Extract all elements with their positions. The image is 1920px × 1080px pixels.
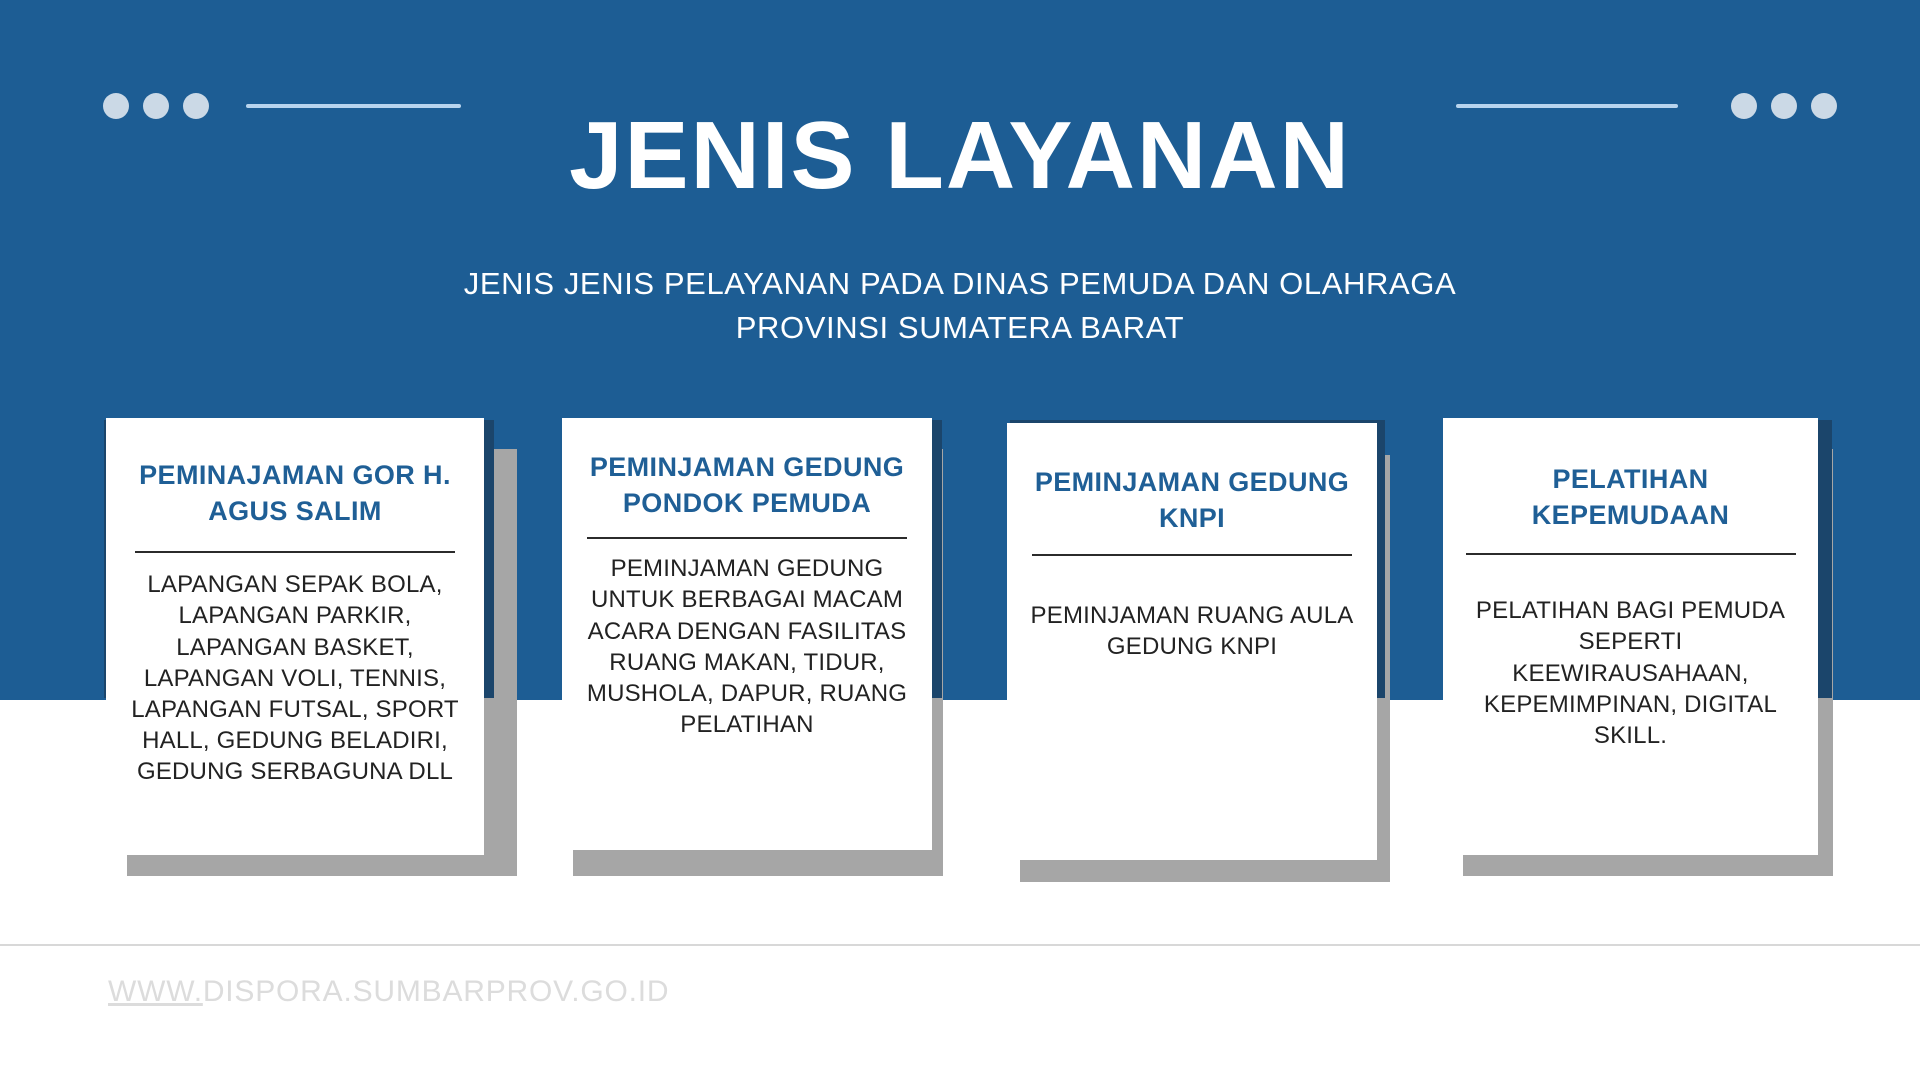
footer-divider <box>0 944 1920 946</box>
card-title: PEMINJAMAN GEDUNG KNPI <box>1021 465 1363 536</box>
card-divider <box>587 537 907 539</box>
card-divider <box>1466 553 1796 555</box>
card-title: PEMINAJAMAN GOR H. AGUS SALIM <box>120 458 470 529</box>
card-surface: PELATIHAN KEPEMUDAAN PELATIHAN BAGI PEMU… <box>1443 418 1818 855</box>
slide-canvas: JENIS LAYANAN JENIS JENIS PELAYANAN PADA… <box>0 0 1920 1080</box>
card-body: PELATIHAN BAGI PEMUDA SEPERTI KEEWIRAUSA… <box>1466 595 1796 751</box>
card-divider <box>135 551 455 553</box>
footer-url-rest: DISPORA.SUMBARPROV.GO.ID <box>203 975 670 1008</box>
card-surface: PEMINJAMAN GEDUNG KNPI PEMINJAMAN RUANG … <box>1007 423 1377 860</box>
card-title: PEMINJAMAN GEDUNG PONDOK PEMUDA <box>576 450 918 521</box>
card-divider <box>1032 554 1352 556</box>
card-surface: PEMINAJAMAN GOR H. AGUS SALIM LAPANGAN S… <box>106 418 484 855</box>
subtitle-line-2: PROVINSI SUMATERA BARAT <box>0 306 1920 350</box>
slide-title: JENIS LAYANAN <box>0 108 1920 204</box>
card-title: PELATIHAN KEPEMUDAAN <box>1457 462 1804 533</box>
card-surface: PEMINJAMAN GEDUNG PONDOK PEMUDA PEMINJAM… <box>562 418 932 850</box>
slide-subtitle: JENIS JENIS PELAYANAN PADA DINAS PEMUDA … <box>0 262 1920 350</box>
footer-url-prefix: WWW. <box>108 975 203 1008</box>
card-body: PEMINJAMAN GEDUNG UNTUK BERBAGAI MACAM A… <box>582 553 912 740</box>
card-body: LAPANGAN SEPAK BOLA, LAPANGAN PARKIR, LA… <box>130 569 460 787</box>
card-body: PEMINJAMAN RUANG AULA GEDUNG KNPI <box>1027 600 1357 662</box>
footer-website-url[interactable]: WWW.DISPORA.SUMBARPROV.GO.ID <box>108 975 669 1009</box>
subtitle-line-1: JENIS JENIS PELAYANAN PADA DINAS PEMUDA … <box>0 262 1920 306</box>
